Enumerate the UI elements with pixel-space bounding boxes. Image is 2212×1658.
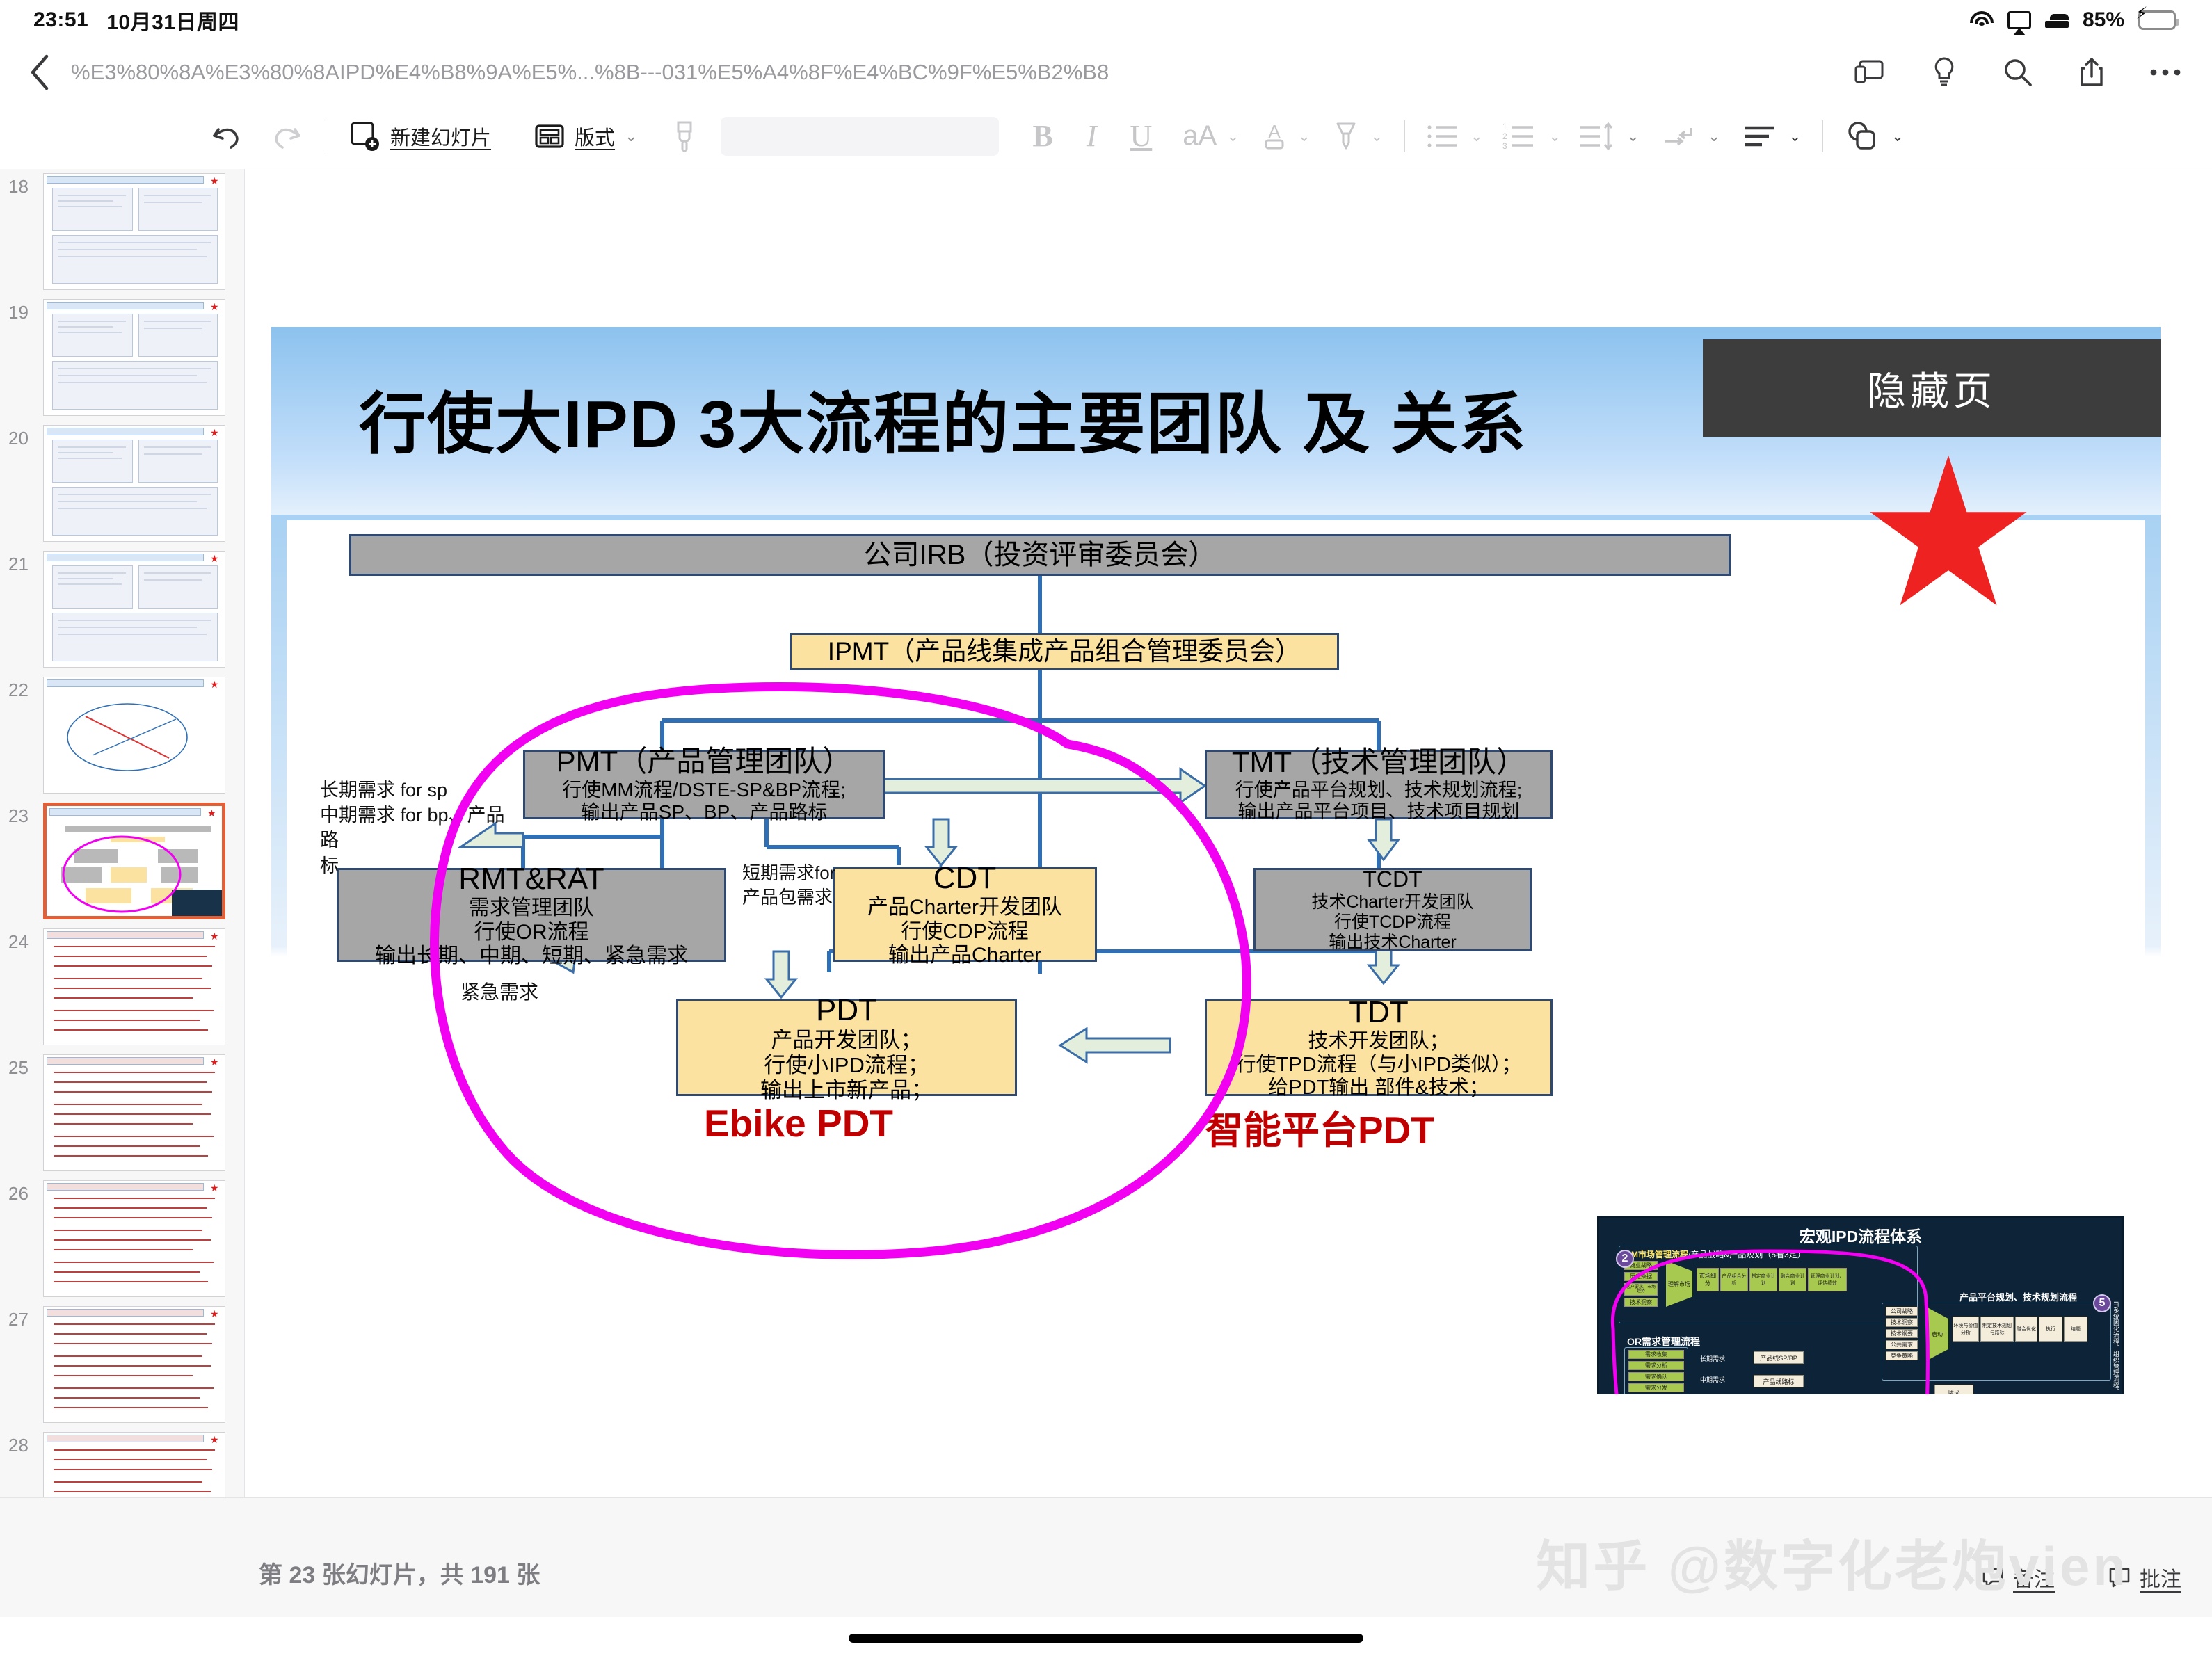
slide-thumbnail[interactable]: ★: [43, 1432, 225, 1497]
svg-text:1: 1: [1502, 122, 1507, 131]
node-tdt[interactable]: TDT 技术开发团队； 行使TPD流程（与小IPD类似）； 给PDT输出 部件&…: [1205, 999, 1553, 1096]
inset-badge-2: 2: [1616, 1250, 1634, 1268]
chevron-down-icon: ⌄: [1548, 129, 1561, 144]
redo-icon[interactable]: [269, 118, 305, 154]
inset-mm-step: 市场细分: [1697, 1268, 1719, 1291]
thumbnail-number: 25: [8, 1057, 29, 1079]
highlighter-icon[interactable]: ⌄: [1331, 119, 1383, 154]
chevron-down-icon: ⌄: [625, 129, 637, 144]
thumbnail-number: 22: [8, 679, 29, 701]
inset-mm-input: 历史数据: [1624, 1272, 1658, 1281]
inset-right-side-text: IT系统固化流程、组织管理流程、机制、标准: [2111, 1301, 2119, 1394]
current-slide[interactable]: 行使大IPD 3大流程的主要团队 及 关系 隐藏页: [271, 327, 2161, 1394]
slide-thumbnail[interactable]: ★: [43, 1054, 225, 1171]
thumbnail-number: 27: [8, 1309, 29, 1330]
node-rmt-rat[interactable]: RMT&RAT 需求管理团队 行使OR流程 输出长期、中期、短期、紧急需求: [337, 868, 726, 962]
new-slide-label: 新建幻灯片: [390, 122, 491, 151]
airplay-icon: [2007, 11, 2031, 29]
layout-button[interactable]: 版式 ⌄: [533, 120, 637, 153]
chevron-down-icon: ⌄: [1626, 129, 1639, 144]
bold-button[interactable]: B: [1032, 118, 1052, 154]
share-icon[interactable]: [2076, 56, 2108, 88]
thumbnail-row: 20★: [0, 421, 244, 547]
inset-mid-card: 产品线路标: [1754, 1375, 1804, 1387]
thumbnail-number: 23: [8, 805, 29, 827]
label-smart-platform-pdt: 智能平台PDT: [1205, 1099, 1434, 1154]
cast-icon[interactable]: [1854, 56, 1886, 88]
numbered-list-icon[interactable]: 123 ⌄: [1501, 121, 1561, 152]
thumbnail-number: 18: [8, 176, 29, 198]
thumbnail-row: 28★: [0, 1428, 244, 1497]
slide-thumbnail[interactable]: ★: [43, 677, 225, 794]
slide-thumbnail[interactable]: ★: [43, 299, 225, 416]
thumbnail-number: 20: [8, 428, 29, 449]
search-icon[interactable]: [2002, 56, 2034, 88]
editor-toolbar: 新建幻灯片 版式 ⌄ B I U aA ⌄ A ⌄ ⌄ ⌄ 123 ⌄ ⌄: [0, 104, 2212, 168]
status-time: 23:51: [33, 8, 88, 32]
inset-platform-step: 制定技术规划与路标: [1980, 1317, 2014, 1342]
svg-text:A: A: [1268, 121, 1281, 142]
back-button[interactable]: [15, 53, 64, 92]
thumbnail-row: 22★: [0, 673, 244, 798]
chevron-down-icon: ⌄: [1470, 129, 1483, 144]
node-pdt[interactable]: PDT 产品开发团队； 行使小IPD流程； 输出上市新产品；: [676, 999, 1017, 1096]
toolbar-divider-1: [326, 120, 326, 152]
inset-or-arrow-label: 长期需求: [1700, 1354, 1725, 1363]
slide-title: 行使大IPD 3大流程的主要团队 及 关系: [359, 370, 1527, 467]
inset-mid-card: 产品线SP/BP: [1754, 1351, 1804, 1364]
chevron-down-icon: ⌄: [1370, 129, 1383, 144]
inset-mm-title: MM市场管理流程/产品战略&产品规划（5看3定）: [1624, 1248, 1806, 1260]
annotation-short-demand: 短期需求for 产品包需求: [742, 861, 867, 910]
thumbnail-number: 21: [8, 554, 29, 575]
slide-canvas: 行使大IPD 3大流程的主要团队 及 关系 隐藏页: [245, 169, 2212, 1497]
status-bar-left: 23:51 10月31日周四: [33, 5, 239, 35]
inset-platform-input: 技术洞察: [1886, 1318, 1918, 1327]
toolbar-divider-3: [1822, 120, 1823, 152]
document-title: %E3%80%8A%E3%80%8AIPD%E4%B8%9A%E5%...%8B…: [71, 60, 1109, 85]
underline-button[interactable]: U: [1130, 118, 1152, 154]
undo-icon[interactable]: [209, 118, 245, 154]
inset-platform-input: 公共需求: [1886, 1340, 1918, 1349]
indent-icon[interactable]: ⌄: [1663, 121, 1720, 152]
layout-label: 版式: [575, 122, 615, 151]
inset-or-step: 需求收集: [1628, 1350, 1684, 1359]
hidden-page-label: 隐藏页: [1867, 360, 1996, 417]
inset-tech-charter: 技术Charter: [1934, 1385, 1973, 1394]
svg-text:2: 2: [1502, 131, 1507, 141]
new-slide-button[interactable]: 新建幻灯片: [347, 119, 491, 154]
thumbnail-number: 28: [8, 1435, 29, 1456]
thumbnail-number: 19: [8, 302, 29, 323]
thumbnail-row: 27★: [0, 1302, 244, 1428]
inset-mm-step: 融合商业计划: [1779, 1268, 1806, 1291]
inset-mm-step: 制定商业计划: [1749, 1268, 1777, 1291]
thumbnail-row: 25★: [0, 1050, 244, 1176]
node-ipmt[interactable]: IPMT（产品线集成产品组合管理委员会）: [790, 633, 1339, 670]
thumbnail-row: 21★: [0, 547, 244, 673]
inset-macro-ipd-diagram[interactable]: 宏观IPD流程体系 MM市场管理流程/产品战略&产品规划（5看3定） 商业战略 …: [1597, 1216, 2124, 1394]
inset-title: 宏观IPD流程体系: [1599, 1223, 2122, 1247]
red-star-icon: [1865, 452, 2032, 612]
chevron-down-icon: ⌄: [1891, 129, 1904, 144]
slide-thumbnail[interactable]: ★: [43, 1306, 225, 1423]
label-ebike-pdt: Ebike PDT: [704, 1101, 893, 1145]
slide-thumbnail[interactable]: ★: [43, 803, 225, 919]
inset-mm-step: 管理商业计划、评估绩效: [1808, 1268, 1847, 1291]
chevron-down-icon: ⌄: [1298, 129, 1311, 144]
node-irb[interactable]: 公司IRB（投资评审委员会）: [349, 534, 1731, 576]
italic-button[interactable]: I: [1087, 118, 1097, 154]
inset-mm-input: 技术洞察: [1624, 1298, 1658, 1307]
inset-platform-step: 结题: [2064, 1317, 2087, 1342]
battery-charging-icon: ⚡: [2138, 10, 2176, 30]
thumbnail-row: 18★: [0, 169, 244, 295]
svg-text:3: 3: [1502, 141, 1507, 151]
status-bar: 23:51 10月31日周四 85% ⚡: [0, 0, 2212, 40]
node-cdt[interactable]: CDT 产品Charter开发团队 行使CDP流程 输出产品Charter: [833, 867, 1097, 962]
font-color-button[interactable]: A ⌄: [1260, 119, 1311, 154]
inset-or-step: 需求分发: [1628, 1383, 1684, 1392]
inset-or-step: 需求分析: [1628, 1361, 1684, 1370]
slide-thumbnail[interactable]: ★: [43, 1180, 225, 1297]
align-left-icon[interactable]: ⌄: [1744, 121, 1801, 152]
slide-thumbnail[interactable]: ★: [43, 425, 225, 542]
battery-percent: 85%: [2083, 8, 2124, 32]
font-name-field[interactable]: [721, 117, 999, 156]
thumbnail-row: 24★: [0, 924, 244, 1050]
thumbnail-row: 19★: [0, 295, 244, 421]
slide-thumbnail[interactable]: ★: [43, 928, 225, 1045]
inset-mm-input: 客户要求、市场趋势: [1624, 1283, 1658, 1296]
line-spacing-icon[interactable]: ⌄: [1579, 121, 1639, 152]
node-tcdt[interactable]: TCDT 技术Charter开发团队 行使TCDP流程 输出技术Charter: [1253, 868, 1532, 951]
hidden-page-badge: 隐藏页: [1703, 339, 2161, 437]
status-date: 10月31日周四: [106, 5, 239, 35]
thumbnail-number: 24: [8, 931, 29, 953]
nav-bar: %E3%80%8A%E3%80%8AIPD%E4%B8%9A%E5%...%8B…: [0, 40, 2212, 104]
toolbar-divider-2: [1404, 120, 1405, 152]
inset-platform-step: 环境与价值分析: [1953, 1317, 1979, 1342]
slide-thumbnail[interactable]: ★: [43, 551, 225, 668]
chevron-down-icon: ⌄: [1788, 129, 1801, 144]
status-bar-right: 85% ⚡: [1970, 8, 2176, 32]
inset-platform-step: 融合优化: [2015, 1317, 2037, 1342]
thumbnail-number: 26: [8, 1183, 29, 1205]
thumbnail-row: 23★: [0, 798, 244, 924]
org-diagram: 公司IRB（投资评审委员会） IPMT（产品线集成产品组合管理委员会） PMT（…: [287, 520, 2145, 1339]
inset-or-title: OR需求管理流程: [1627, 1335, 1700, 1349]
node-tmt[interactable]: TMT（技术管理团队） 行使产品平台规划、技术规划流程; 输出产品平台项目、技术…: [1205, 750, 1553, 819]
inset-platform-input: 技术纲要: [1886, 1329, 1918, 1338]
more-icon[interactable]: [2149, 56, 2181, 88]
format-painter-icon[interactable]: [669, 119, 700, 154]
inset-or-arrow-label: 中期需求: [1700, 1375, 1725, 1384]
inset-badge-5: 5: [2093, 1294, 2111, 1312]
chevron-down-icon: ⌄: [1708, 129, 1720, 144]
home-indicator: [849, 1634, 1363, 1643]
inset-platform-input: 公司战略: [1886, 1307, 1918, 1316]
shapes-icon[interactable]: ⌄: [1844, 120, 1904, 153]
comment-label: 批注: [2140, 1562, 2181, 1593]
slide-count-label: 第 23 张幻灯片，共 191 张: [259, 1556, 540, 1590]
chevron-down-icon: ⌄: [1226, 129, 1239, 144]
inset-platform-step: 执行: [2039, 1317, 2062, 1342]
lightbulb-icon[interactable]: [1928, 56, 1960, 88]
watermark: 知乎 @数字化老炮vien: [1536, 1523, 2129, 1601]
slide-thumbnail[interactable]: ★: [43, 173, 225, 290]
inset-or-step: 需求确认: [1628, 1372, 1684, 1381]
annotation-urgent-demand: 紧急需求: [460, 979, 538, 1006]
wifi-icon: [1970, 11, 1994, 29]
slide-body: 公司IRB（投资评审委员会） IPMT（产品线集成产品组合管理委员会） PMT（…: [287, 520, 2145, 1339]
font-size-button[interactable]: aA ⌄: [1183, 120, 1239, 152]
annotation-long-mid-demand: 长期需求 for sp 中期需求 for bp、产品路 标: [320, 778, 522, 878]
bullet-list-icon[interactable]: ⌄: [1426, 121, 1483, 152]
sleep-focus-icon: [2045, 13, 2069, 28]
slide-thumbnail-sidebar[interactable]: 18★19★20★21★22★23★24★25★26★27★28★29★: [0, 169, 245, 1497]
node-pmt[interactable]: PMT（产品管理团队） 行使MM流程/DSTE-SP&BP流程; 输出产品SP、…: [523, 750, 885, 819]
thumbnail-row: 26★: [0, 1176, 244, 1302]
inset-mm-step: 产品组合分析: [1720, 1268, 1748, 1291]
nav-actions: [1854, 56, 2181, 88]
inset-platform-input: 竞争策略: [1886, 1351, 1918, 1360]
inset-platform-title: 产品平台规划、技术规划流程: [1959, 1290, 2077, 1303]
